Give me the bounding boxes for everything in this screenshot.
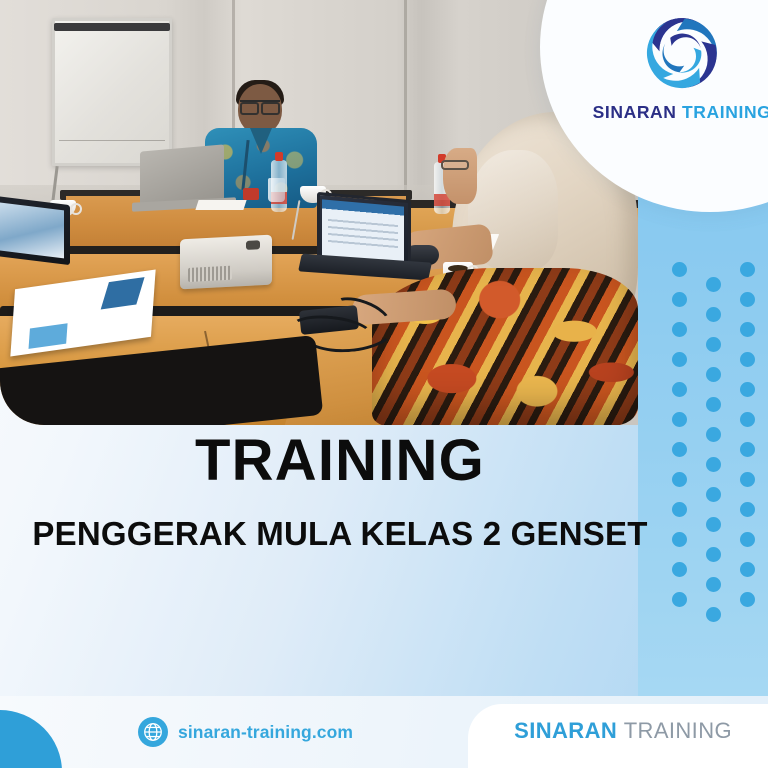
decorative-dot: [706, 457, 721, 472]
decorative-dot: [706, 277, 721, 292]
flipchart-whiteboard: [52, 18, 172, 166]
decorative-dot: [706, 397, 721, 412]
logo-word-primary: SINARAN: [593, 102, 677, 122]
decorative-dot: [706, 607, 721, 622]
decorative-dot: [706, 487, 721, 502]
footer-brand-wordmark: SINARAN TRAINING: [514, 718, 732, 744]
decorative-dot: [740, 262, 755, 277]
decorative-dot: [706, 427, 721, 442]
page-subtitle: PENGGERAK MULA KELAS 2 GENSET: [0, 516, 680, 552]
decorative-dot: [706, 307, 721, 322]
decorative-dot: [672, 592, 687, 607]
decorative-dot: [706, 337, 721, 352]
decorative-dot: [740, 592, 755, 607]
decorative-dot: [740, 292, 755, 307]
decorative-dot: [740, 382, 755, 397]
decorative-dot: [672, 352, 687, 367]
globe-icon: [138, 717, 168, 747]
footer-bar: sinaran-training.com SINARAN TRAINING: [0, 696, 768, 768]
instructor-glasses: [240, 100, 280, 108]
decorative-dot: [672, 562, 687, 577]
decorative-dot: [672, 262, 687, 277]
decorative-dot: [672, 322, 687, 337]
decorative-dot: [740, 322, 755, 337]
decorative-dot: [706, 517, 721, 532]
website-link[interactable]: sinaran-training.com: [138, 717, 353, 747]
sinaran-swirl-logo-icon: [630, 10, 734, 100]
participant-face: [443, 148, 477, 204]
decorative-dot: [706, 367, 721, 382]
footer-blue-circle: [0, 710, 62, 768]
website-url-text: sinaran-training.com: [178, 722, 353, 743]
decorative-dot: [740, 532, 755, 547]
logo-wordmark: SINARAN TRAINING: [593, 102, 768, 123]
decorative-dot: [740, 562, 755, 577]
decorative-dot: [740, 412, 755, 427]
projector: [180, 235, 272, 290]
drinking-glass: [268, 178, 285, 202]
decorative-dot: [706, 547, 721, 562]
brand-logo: SINARAN TRAINING: [596, 10, 768, 132]
laptop-foreground-left: [0, 195, 70, 265]
laptop-screen-content: [322, 199, 404, 264]
paper-sheet: [195, 200, 246, 210]
decorative-dot: [740, 352, 755, 367]
decorative-dot: [672, 382, 687, 397]
page-title: TRAINING: [0, 432, 680, 490]
logo-word-secondary: TRAINING: [682, 102, 768, 122]
decorative-dot-grid: [672, 262, 752, 622]
decorative-dot: [706, 577, 721, 592]
footer-brand-secondary: TRAINING: [624, 718, 732, 743]
decorative-dot: [740, 472, 755, 487]
decorative-dot: [672, 412, 687, 427]
poster-canvas: SINARAN TRAINING TRAINING PENGGERAK MULA…: [0, 0, 768, 768]
decorative-dot: [672, 292, 687, 307]
decorative-dot: [740, 502, 755, 517]
poster-title-block: TRAINING PENGGERAK MULA KELAS 2 GENSET: [0, 432, 680, 552]
decorative-dot: [740, 442, 755, 457]
footer-brand-primary: SINARAN: [514, 718, 617, 743]
participant-glasses: [441, 160, 469, 170]
instructor-badge: [243, 188, 259, 200]
